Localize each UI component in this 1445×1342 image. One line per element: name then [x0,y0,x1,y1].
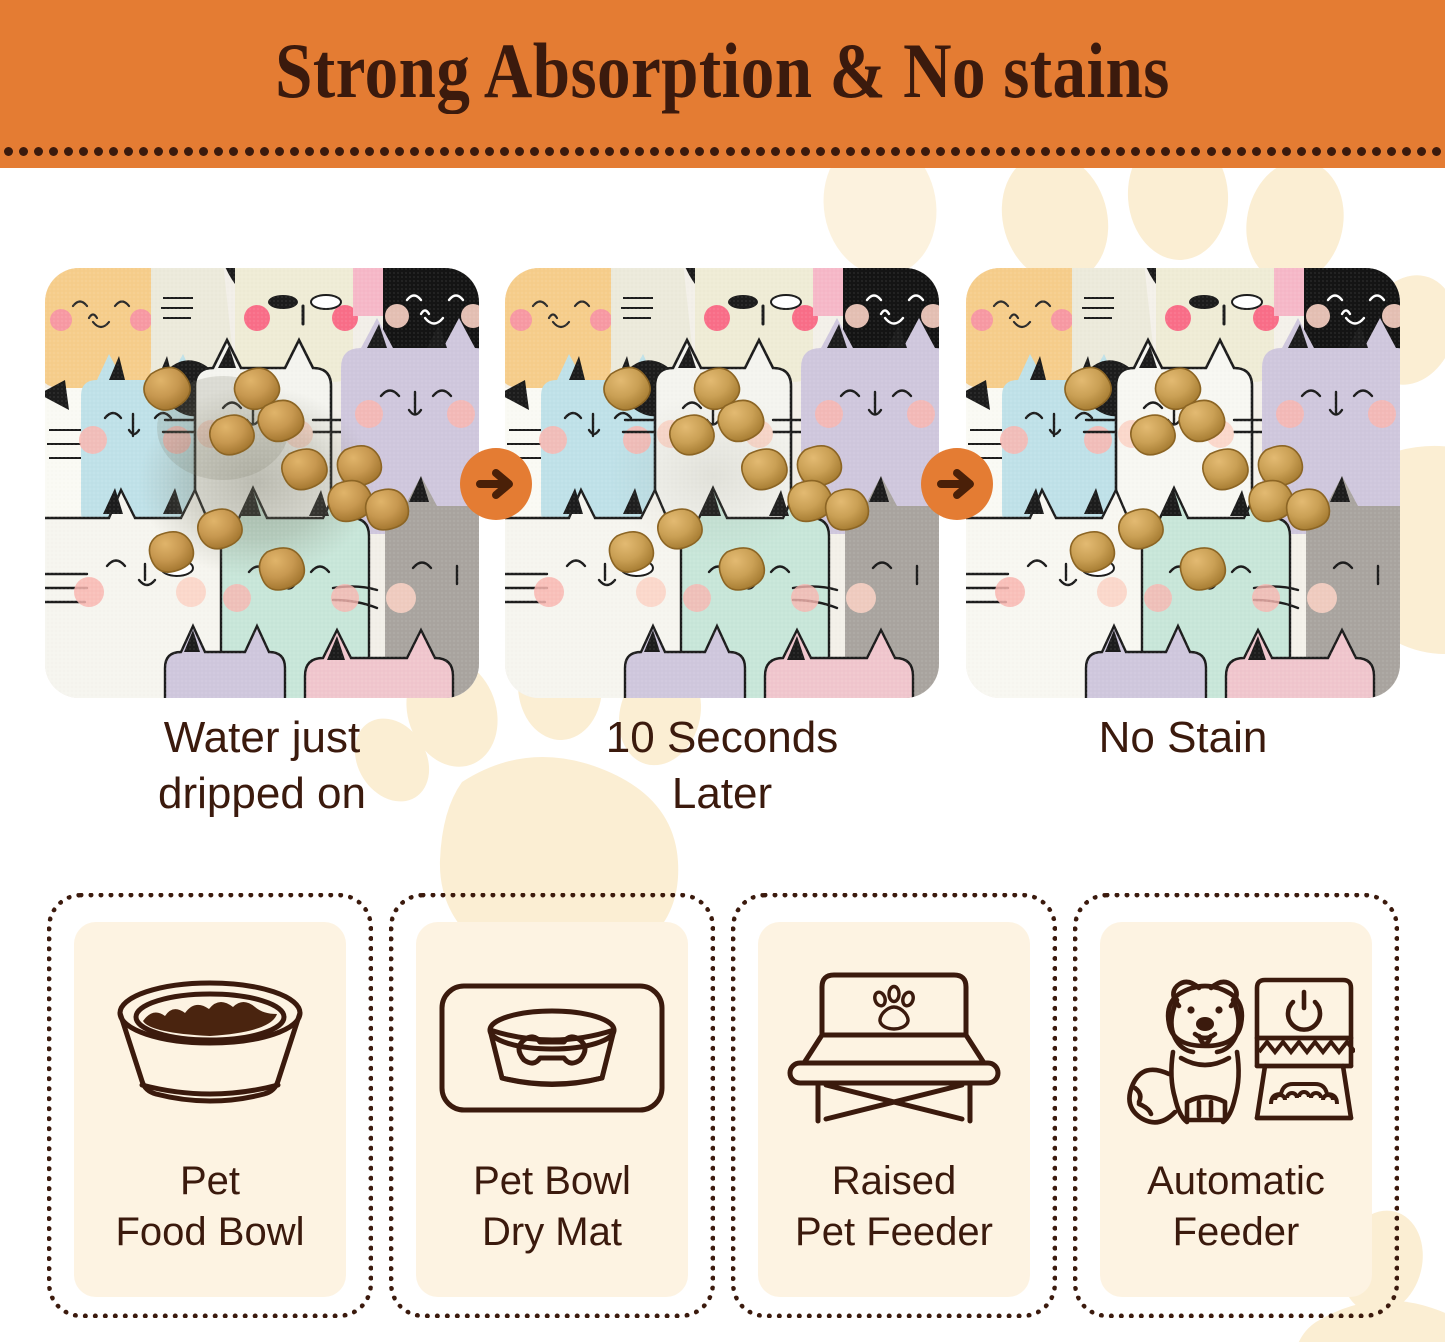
banner-dot [199,147,208,156]
page-title: Strong Absorption & No stains [101,26,1344,116]
banner-dot [921,147,930,156]
banner-dot [620,147,629,156]
banner-dot [876,147,885,156]
banner-dot [1026,147,1035,156]
banner-dot [290,147,299,156]
arrow-right-icon [474,462,518,506]
feature-card-automatic-feeder[interactable]: Automatic Feeder [1073,893,1399,1318]
banner-dot [1207,147,1216,156]
banner-dot [4,147,13,156]
banner-dot [335,147,344,156]
banner-dot [680,147,689,156]
banner-dot [94,147,103,156]
banner-dot [1267,147,1276,156]
feature-label-line: Dry Mat [473,1207,631,1258]
banner-dot [1116,147,1125,156]
feature-label-line: Feeder [1147,1207,1325,1258]
feature-card-pet-food-bowl[interactable]: Pet Food Bowl [47,893,373,1318]
banner-dot [695,147,704,156]
banner-dot [966,147,975,156]
banner-dot [1387,147,1396,156]
cat-mat-photo-1 [45,268,479,698]
banner-dot [861,147,870,156]
banner-dot [635,147,644,156]
feature-label-line: Raised [795,1156,993,1207]
banner-dotted-divider [0,147,1445,159]
cat-mat-photo-2 [505,268,939,698]
banner-dot [846,147,855,156]
caption-line: 10 Seconds [505,710,939,766]
demo-photo-1 [45,268,479,698]
banner-dot [1146,147,1155,156]
banner-dot [485,147,494,156]
caption-water-just-dripped-on: Water just dripped on [45,710,479,822]
banner-dot [184,147,193,156]
banner-dot [1071,147,1080,156]
banner-dot [530,147,539,156]
banner-dot [1222,147,1231,156]
use-case-feature-row: Pet Food Bowl [47,893,1399,1318]
banner-dot [1011,147,1020,156]
banner-dot [275,147,284,156]
banner-dot [34,147,43,156]
banner-dot [64,147,73,156]
banner-dot [500,147,509,156]
banner-dot [350,147,359,156]
banner-dot [245,147,254,156]
banner-dot [1372,147,1381,156]
feature-icon-wrap [1117,948,1355,1148]
banner-dot [380,147,389,156]
feature-label-automatic-feeder: Automatic Feeder [1147,1156,1325,1258]
pet-food-bowl-icon [103,973,317,1123]
banner-dot [650,147,659,156]
feature-label-line: Pet Feeder [795,1207,993,1258]
feature-label-line: Food Bowl [116,1207,305,1258]
banner-dot [320,147,329,156]
feature-card-inner: Pet Bowl Dry Mat [416,922,688,1297]
banner-dot [590,147,599,156]
demo-photo-3 [966,268,1400,698]
banner-dot [395,147,404,156]
banner-dot [260,147,269,156]
feature-icon-wrap [103,948,317,1148]
banner-dot [771,147,780,156]
arrow-right-badge-1 [460,448,532,520]
caption-10-seconds-later: 10 Seconds Later [505,710,939,822]
banner-dot [1312,147,1321,156]
feature-icon-wrap [436,948,668,1148]
banner-dot [1161,147,1170,156]
banner-dot [1402,147,1411,156]
arrow-right-icon [935,462,979,506]
feature-label-line: Automatic [1147,1156,1325,1207]
banner-dot [515,147,524,156]
banner-dot [1176,147,1185,156]
banner-dot [79,147,88,156]
banner-dot [169,147,178,156]
demo-captions: Water just dripped on 10 Seconds Later N… [45,710,1400,830]
banner-dot [741,147,750,156]
banner-dot [109,147,118,156]
banner-dot [1297,147,1306,156]
banner-dot [124,147,133,156]
feature-card-inner: Raised Pet Feeder [758,922,1030,1297]
banner-dot [229,147,238,156]
arrow-right-badge-2 [921,448,993,520]
feature-label-pet-bowl-dry-mat: Pet Bowl Dry Mat [473,1156,631,1258]
banner-dot [605,147,614,156]
banner-dot [1041,147,1050,156]
banner-dot [365,147,374,156]
pet-bowl-dry-mat-icon [436,978,668,1118]
banner-dot [305,147,314,156]
banner-dot [1432,147,1441,156]
banner-dot [906,147,915,156]
banner-dot [1252,147,1261,156]
banner-dot [981,147,990,156]
caption-line: Water just [45,710,479,766]
banner-dot [1357,147,1366,156]
banner-dot [801,147,810,156]
banner-dot [936,147,945,156]
banner-dot [1191,147,1200,156]
header-banner: Strong Absorption & No stains [0,0,1445,168]
banner-dot [951,147,960,156]
banner-dot [1237,147,1246,156]
caption-line: No Stain [966,710,1400,766]
caption-line: dripped on [45,766,479,822]
caption-no-stain: No Stain [966,710,1400,766]
banner-dot [1086,147,1095,156]
banner-dot [49,147,58,156]
banner-dot [470,147,479,156]
banner-dot [425,147,434,156]
banner-dot [786,147,795,156]
banner-dot [996,147,1005,156]
banner-dot [710,147,719,156]
caption-line: Later [505,766,939,822]
feature-label-raised-pet-feeder: Raised Pet Feeder [795,1156,993,1258]
feature-card-inner: Automatic Feeder [1100,922,1372,1297]
raised-pet-feeder-icon [782,969,1006,1127]
banner-dot [440,147,449,156]
banner-dot [756,147,765,156]
banner-dot [214,147,223,156]
banner-dot [831,147,840,156]
cat-mat-photo-3 [966,268,1400,698]
banner-dot [1327,147,1336,156]
banner-dot [1056,147,1065,156]
banner-dot [1282,147,1291,156]
banner-dot [154,147,163,156]
absorption-demo-photo-row [45,268,1400,698]
feature-card-raised-pet-feeder[interactable]: Raised Pet Feeder [731,893,1057,1318]
banner-dot [726,147,735,156]
banner-dot [560,147,569,156]
banner-dot [1417,147,1426,156]
feature-label-pet-food-bowl: Pet Food Bowl [116,1156,305,1258]
banner-dot [410,147,419,156]
feature-card-inner: Pet Food Bowl [74,922,346,1297]
banner-dot [545,147,554,156]
banner-dot [1342,147,1351,156]
feature-card-pet-bowl-dry-mat[interactable]: Pet Bowl Dry Mat [389,893,715,1318]
banner-dot [665,147,674,156]
banner-dot [139,147,148,156]
banner-dot [816,147,825,156]
banner-dot [575,147,584,156]
feature-label-line: Pet [116,1156,305,1207]
feature-label-line: Pet Bowl [473,1156,631,1207]
demo-photo-2 [505,268,939,698]
banner-dot [1131,147,1140,156]
banner-dot [891,147,900,156]
banner-dot [455,147,464,156]
feature-icon-wrap [782,948,1006,1148]
banner-dot [1101,147,1110,156]
banner-dot [19,147,28,156]
automatic-feeder-icon [1117,970,1355,1126]
